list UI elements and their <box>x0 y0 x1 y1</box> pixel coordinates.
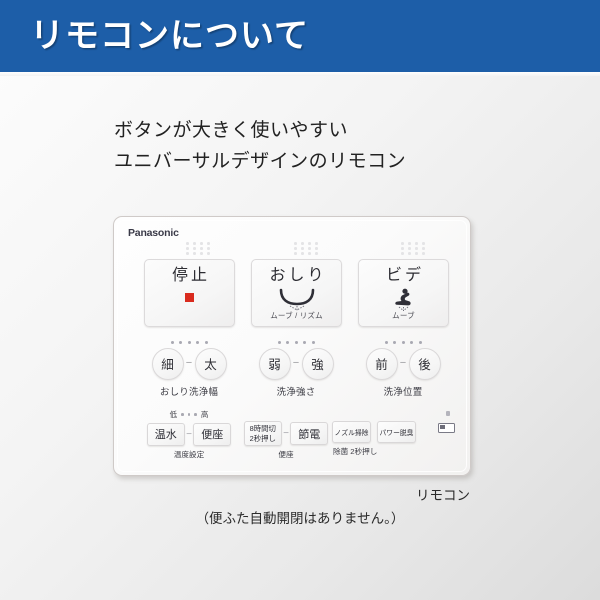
temperature-dash: − <box>185 429 194 440</box>
remote-note: （便ふた自動開閉はありません。） <box>0 507 600 527</box>
nozzle-group-spacer <box>332 409 424 421</box>
energy-save-button[interactable]: 節電 <box>290 422 328 445</box>
warm-water-temp-button[interactable]: 温水 <box>147 423 185 446</box>
page-title: リモコンについて <box>30 19 309 53</box>
power-deodorize-label: パワー脱臭 <box>380 427 414 437</box>
wash-strength-caption: 洗浄強さ <box>254 384 338 398</box>
nozzle-clean-label: ノズル掃除 <box>335 427 369 437</box>
power-deodorize-button[interactable]: パワー脱臭 <box>377 421 416 443</box>
rear-wash-button-sublabel: ムーブ / リズム <box>252 310 341 321</box>
nozzle-deodorize-group: ノズル掃除 パワー脱臭 除菌 2秒押し <box>332 409 424 457</box>
battery-icon <box>438 423 455 433</box>
wash-position-level-dots <box>361 341 445 344</box>
stop-button[interactable]: 停止 <box>144 259 235 327</box>
wash-width-level-dots <box>147 341 231 344</box>
bidet-wash-button[interactable]: ビデ ムーブ <box>358 259 449 327</box>
subtitle-line-1: ボタンが大きく使いやすい <box>114 116 406 147</box>
subtitle-block: ボタンが大きく使いやすい ユニバーサルデザインのリモコン <box>114 116 406 178</box>
temperature-group: 低 高 温水 − 便座 温度設定 <box>147 409 231 460</box>
wash-width-caption: おしり洗浄幅 <box>147 384 231 398</box>
temperature-high-label: 高 <box>201 409 209 420</box>
wash-strength-weak-button[interactable]: 弱 <box>259 348 291 380</box>
eight-hour-off-label-1: 8時間切 <box>250 424 276 433</box>
remote-control-panel: Panasonic 停止 おしり <box>113 216 471 476</box>
stop-button-label: 停止 <box>145 267 234 285</box>
wash-width-dash: − <box>184 358 195 369</box>
warm-water-temp-label: 温水 <box>155 426 177 442</box>
eight-hour-off-button[interactable]: 8時間切 2秒押し <box>244 421 282 446</box>
header-underline <box>0 72 600 76</box>
wash-width-group: 細 − 太 おしり洗浄幅 <box>147 341 231 398</box>
rear-wash-button-label: おしり <box>252 267 341 285</box>
temperature-caption: 温度設定 <box>147 449 231 460</box>
seat-temp-button[interactable]: 便座 <box>193 423 231 446</box>
temperature-low-label: 低 <box>170 409 178 420</box>
temperature-scale: 低 高 <box>147 409 231 420</box>
wash-strength-group: 弱 − 強 洗浄強さ <box>254 341 338 398</box>
rear-wash-icon <box>252 287 341 313</box>
wash-strength-dash: − <box>291 358 302 369</box>
nozzle-clean-button[interactable]: ノズル掃除 <box>332 421 371 443</box>
braille-dots-stop <box>186 242 211 255</box>
wash-position-back-button[interactable]: 後 <box>409 348 441 380</box>
eight-hour-off-label-2: 2秒押し <box>250 434 276 443</box>
panasonic-logo: Panasonic <box>128 227 179 239</box>
braille-dots-rear <box>294 242 319 255</box>
wash-position-caption: 洗浄位置 <box>361 384 445 398</box>
header-banner: リモコンについて <box>0 0 600 72</box>
seat-power-spacer <box>244 409 328 421</box>
subtitle-line-2: ユニバーサルデザインのリモコン <box>114 147 406 178</box>
wash-strength-strong-button[interactable]: 強 <box>302 348 334 380</box>
wash-width-wide-button[interactable]: 太 <box>195 348 227 380</box>
bidet-wash-icon <box>359 287 448 313</box>
bidet-wash-button-sublabel: ムーブ <box>359 310 448 321</box>
seat-power-group: 8時間切 2秒押し − 節電 便座 <box>244 409 328 460</box>
seat-power-dash: − <box>282 428 291 439</box>
braille-dots-bidet <box>401 242 426 255</box>
bidet-wash-button-label: ビデ <box>359 267 448 285</box>
rear-wash-button[interactable]: おしり ムーブ / リズム <box>251 259 342 327</box>
seat-temp-label: 便座 <box>201 426 223 442</box>
seat-power-caption: 便座 <box>244 449 328 460</box>
wash-width-narrow-button[interactable]: 細 <box>152 348 184 380</box>
wash-strength-level-dots <box>254 341 338 344</box>
remote-caption: リモコン <box>0 484 470 504</box>
wash-position-group: 前 − 後 洗浄位置 <box>361 341 445 398</box>
page-root: リモコンについて ボタンが大きく使いやすい ユニバーサルデザインのリモコン Pa… <box>0 0 600 600</box>
nozzle-deodorize-caption: 除菌 2秒押し <box>333 446 424 457</box>
wash-position-dash: − <box>398 358 409 369</box>
wash-position-front-button[interactable]: 前 <box>366 348 398 380</box>
energy-save-label: 節電 <box>298 426 320 442</box>
red-square-icon <box>185 293 194 302</box>
status-dot-icon <box>446 411 451 416</box>
